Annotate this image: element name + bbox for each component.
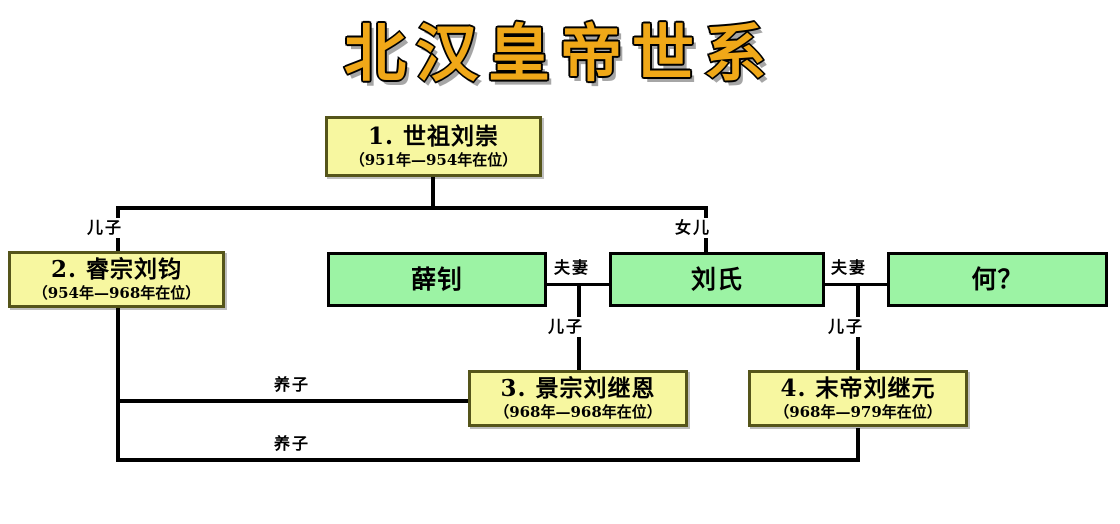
node-ruizong-liujun[interactable]: 2. 睿宗刘钧 （954年—968年在位）	[8, 251, 225, 308]
node-reign: （968年—979年在位）	[774, 403, 942, 422]
relation-label-son-left: 儿子	[85, 218, 125, 238]
page-title: 北汉皇帝世系	[0, 16, 1120, 92]
connector-shizu-stem	[431, 176, 435, 209]
genealogy-diagram: 北汉皇帝世系 1. 世祖刘崇 （951年—954年在位） 2. 睿宗刘钧 （95…	[0, 0, 1120, 524]
node-he-unknown[interactable]: 何？	[887, 252, 1108, 307]
node-name: 刘氏	[691, 266, 743, 293]
node-name: 4. 末帝刘继元	[780, 375, 935, 402]
connector-shizu-bus	[116, 206, 708, 210]
node-liushi[interactable]: 刘氏	[609, 252, 825, 307]
connector-adopted-lower	[116, 458, 860, 462]
connector-adopted-upper	[116, 399, 471, 403]
relation-label-spouse-left: 夫妻	[552, 258, 592, 278]
node-reign: （951年—954年在位）	[350, 151, 518, 170]
relation-label-son-right: 儿子	[826, 317, 866, 337]
connector-adoption-rail	[116, 308, 120, 462]
relation-label-adopted-lower: 养子	[272, 434, 312, 454]
node-shizu-liuchong[interactable]: 1. 世祖刘崇 （951年—954年在位）	[325, 116, 542, 177]
node-reign: （954年—968年在位）	[33, 284, 201, 303]
relation-label-son-mid: 儿子	[546, 317, 586, 337]
node-modi-liujiyuan[interactable]: 4. 末帝刘继元 （968年—979年在位）	[748, 370, 968, 427]
node-name: 1. 世祖刘崇	[368, 123, 499, 150]
relation-label-daughter: 女儿	[673, 218, 713, 238]
relation-label-adopted-upper: 养子	[272, 375, 312, 395]
connector-adopted-lower-riser	[856, 428, 860, 462]
node-name: 2. 睿宗刘钧	[51, 256, 182, 283]
node-jingzong-liujien[interactable]: 3. 景宗刘继恩 （968年—968年在位）	[468, 370, 688, 427]
node-name: 薛钊	[411, 266, 463, 293]
node-xuezhao[interactable]: 薛钊	[327, 252, 547, 307]
node-reign: （968年—968年在位）	[494, 403, 662, 422]
node-name: 何？	[971, 266, 1023, 293]
node-name: 3. 景宗刘继恩	[500, 375, 655, 402]
relation-label-spouse-right: 夫妻	[829, 258, 869, 278]
